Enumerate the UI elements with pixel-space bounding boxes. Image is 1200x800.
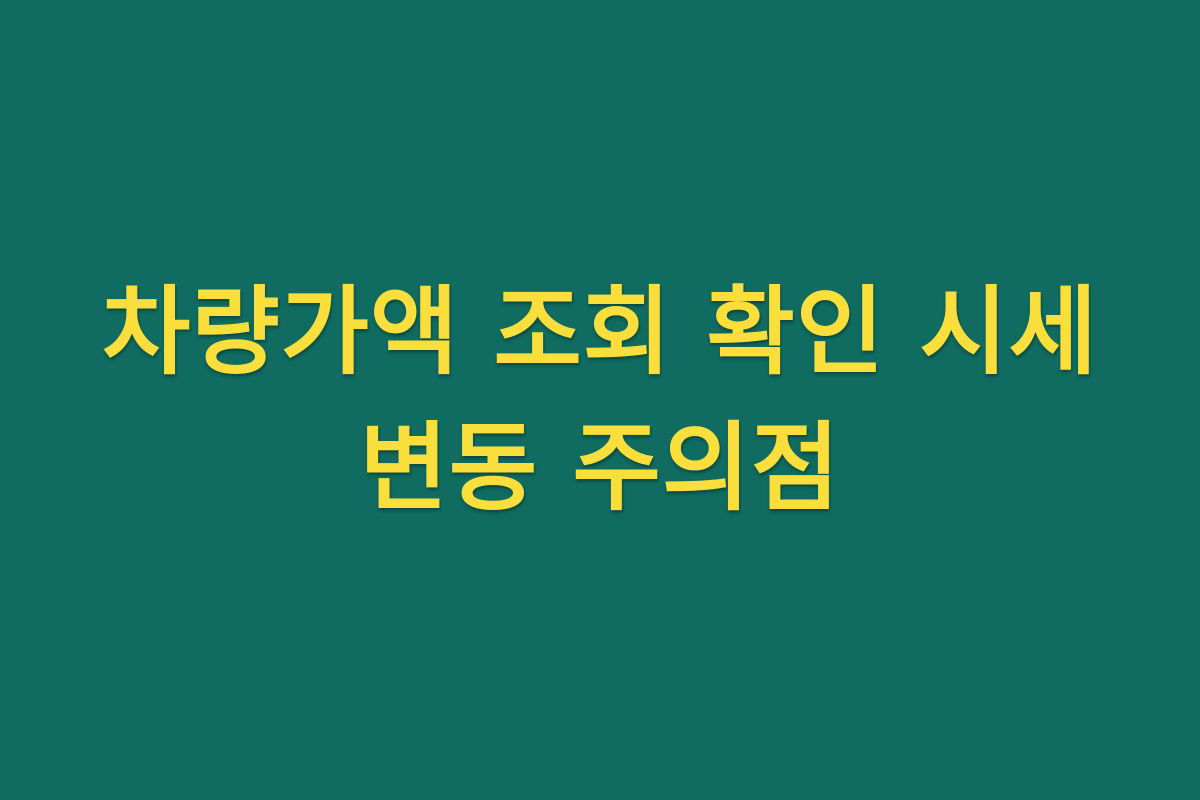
page-title-line-1: 차량가액 조회 확인 시세 <box>50 264 1150 400</box>
page-title-line-2: 변동 주의점 <box>50 400 1150 536</box>
page-title: 차량가액 조회 확인 시세 변동 주의점 <box>50 264 1150 537</box>
title-banner: 차량가액 조회 확인 시세 변동 주의점 <box>0 0 1200 800</box>
